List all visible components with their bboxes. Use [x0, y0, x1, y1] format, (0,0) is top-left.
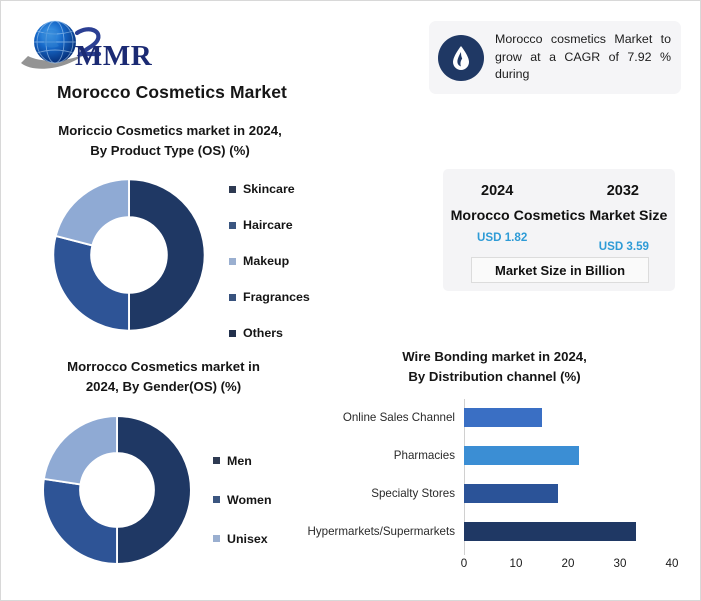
legend-label-unisex: Unisex: [227, 532, 268, 546]
distribution-title-line1: Wire Bonding market in 2024,: [353, 347, 636, 367]
legend-item-haircare: Haircare: [229, 207, 310, 243]
bar-row-hypermarkets: Hypermarkets/Supermarkets: [301, 513, 689, 551]
bar-fill-online-sales: [464, 408, 542, 427]
market-size-value-start: USD 1.82: [477, 231, 527, 244]
legend-swatch-icon: [229, 222, 236, 229]
bar-row-pharmacies: Pharmacies: [301, 437, 689, 475]
donut-slice-makeup: [56, 179, 129, 245]
market-size-card: 2024 2032 Morocco Cosmetics Market Size …: [443, 169, 675, 291]
page-title: Morocco Cosmetics Market: [57, 82, 287, 103]
bar-track: [464, 513, 689, 551]
x-axis-tick: 10: [510, 557, 523, 570]
bar-fill-hypermarkets: [464, 522, 636, 541]
infographic-canvas: MMR Morocco Cosmetics Market Morocco cos…: [0, 0, 701, 601]
bar-track: [464, 399, 689, 437]
bar-row-specialty-stores: Specialty Stores: [301, 475, 689, 513]
x-axis-tick: 0: [461, 557, 467, 570]
water-drop-glyph: [451, 45, 471, 71]
cagr-text: Morocco cosmetics Market to grow at a CA…: [495, 31, 671, 84]
legend-label-makeup: Makeup: [243, 254, 289, 268]
legend-item-women: Women: [213, 480, 272, 519]
year-start-label: 2024: [481, 183, 513, 199]
bar-chart-x-axis: 0 10 20 30 40: [464, 557, 673, 579]
x-axis-tick: 20: [562, 557, 575, 570]
cagr-callout: Morocco cosmetics Market to grow at a CA…: [429, 21, 681, 94]
distribution-chart-title: Wire Bonding market in 2024, By Distribu…: [353, 347, 636, 388]
bar-track: [464, 475, 689, 513]
bar-category-label: Pharmacies: [301, 449, 464, 463]
legend-swatch-icon: [229, 258, 236, 265]
donut-slice-men: [117, 416, 191, 564]
legend-item-others: Others: [229, 315, 310, 351]
gender-title-line1: Morrocco Cosmetics market in: [31, 357, 296, 377]
donut-slice-haircare: [53, 236, 129, 331]
legend-label-haircare: Haircare: [243, 218, 293, 232]
bar-fill-specialty-stores: [464, 484, 558, 503]
gender-donut-chart: [33, 406, 201, 574]
x-axis-tick: 30: [614, 557, 627, 570]
product-type-chart-title: Moriccio Cosmetics market in 2024, By Pr…: [25, 121, 315, 162]
bar-category-label: Hypermarkets/Supermarkets: [301, 525, 464, 539]
legend-swatch-icon: [229, 330, 236, 337]
market-size-years: 2024 2032: [443, 183, 675, 199]
gender-legend: Men Women Unisex: [213, 441, 272, 558]
bar-track: [464, 437, 689, 475]
donut-slice-women: [43, 479, 117, 564]
bar-fill-pharmacies: [464, 446, 579, 465]
x-axis-tick: 40: [666, 557, 679, 570]
distribution-channel-bar-chart: Online Sales Channel Pharmacies Specialt…: [301, 399, 689, 585]
svg-text:MMR: MMR: [75, 40, 153, 72]
legend-swatch-icon: [229, 294, 236, 301]
product-type-title-line2: By Product Type (OS) (%): [25, 141, 315, 161]
distribution-title-line2: By Distribution channel (%): [353, 367, 636, 387]
gender-donut-svg: [33, 406, 201, 574]
legend-label-skincare: Skincare: [243, 182, 295, 196]
year-end-label: 2032: [607, 183, 639, 199]
bar-category-label: Specialty Stores: [301, 487, 464, 501]
legend-label-fragrances: Fragrances: [243, 290, 310, 304]
donut-slice-unisex: [44, 416, 117, 484]
product-type-legend: Skincare Haircare Makeup Fragrances Othe…: [229, 171, 310, 351]
product-type-donut-svg: [43, 169, 215, 341]
legend-swatch-icon: [213, 457, 220, 464]
legend-label-women: Women: [227, 493, 272, 507]
market-size-heading: Morocco Cosmetics Market Size: [443, 208, 675, 224]
logo-artwork: MMR: [19, 13, 179, 75]
legend-item-skincare: Skincare: [229, 171, 310, 207]
legend-item-unisex: Unisex: [213, 519, 272, 558]
bar-row-online-sales: Online Sales Channel: [301, 399, 689, 437]
market-size-value-end: USD 3.59: [599, 240, 649, 253]
legend-swatch-icon: [213, 496, 220, 503]
legend-item-men: Men: [213, 441, 272, 480]
gender-chart-title: Morrocco Cosmetics market in 2024, By Ge…: [31, 357, 296, 398]
bar-category-label: Online Sales Channel: [301, 411, 464, 425]
product-type-donut-chart: [43, 169, 215, 341]
legend-item-fragrances: Fragrances: [229, 279, 310, 315]
market-size-unit-label: Market Size in Billion: [471, 257, 649, 283]
donut-slice-skincare: [129, 179, 205, 330]
bar-chart-rows: Online Sales Channel Pharmacies Specialt…: [301, 399, 689, 551]
gender-title-line2: 2024, By Gender(OS) (%): [31, 377, 296, 397]
legend-label-others: Others: [243, 326, 283, 340]
water-drop-icon: [438, 35, 484, 81]
legend-swatch-icon: [229, 186, 236, 193]
legend-swatch-icon: [213, 535, 220, 542]
legend-item-makeup: Makeup: [229, 243, 310, 279]
product-type-title-line1: Moriccio Cosmetics market in 2024,: [25, 121, 315, 141]
market-size-values: USD 1.82 USD 3.59: [443, 231, 675, 244]
mmr-logo: MMR: [19, 13, 179, 75]
legend-label-men: Men: [227, 454, 252, 468]
